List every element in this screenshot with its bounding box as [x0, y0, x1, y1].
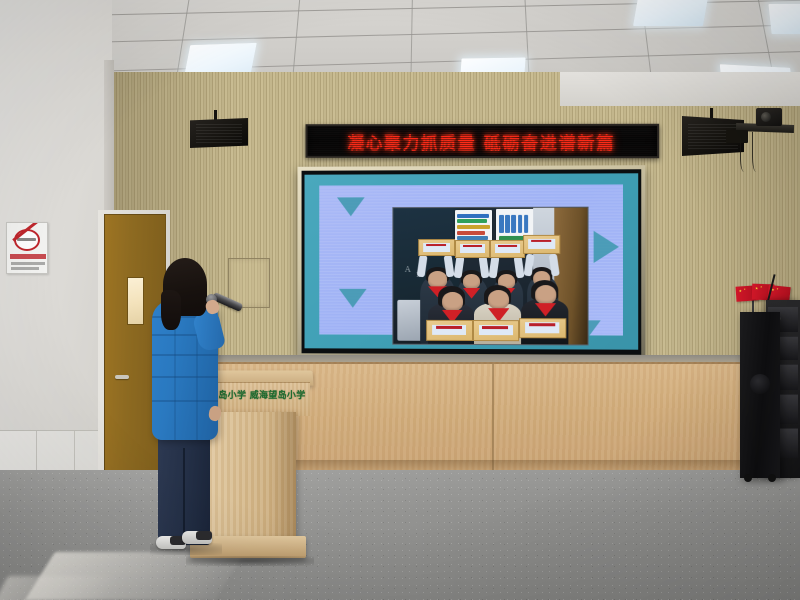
person-hair-back — [161, 290, 181, 330]
caster-wheel — [744, 474, 752, 482]
projector-cable — [740, 138, 750, 172]
podium-shadow — [186, 556, 314, 566]
sign-sub-text-2 — [11, 267, 39, 270]
wall-soffit — [560, 72, 800, 106]
subwoofer-cabinet — [740, 312, 780, 478]
slide-content-field: A x — [319, 184, 623, 336]
no-smoking-sign — [6, 222, 48, 274]
projector-cable-2 — [752, 132, 762, 172]
led-banner-text: 凝心聚力抓质量 砥砺奋进谱新篇 — [348, 128, 616, 153]
triangle-down-bottom-left-icon — [339, 288, 367, 307]
person-trousers — [158, 430, 210, 545]
projector-lens-icon — [761, 112, 771, 122]
led-display-screen[interactable]: A x — [298, 165, 646, 359]
speaker-cone-icon — [750, 374, 770, 394]
photo-certificate — [523, 235, 560, 254]
triangle-down-top-left-icon — [337, 197, 365, 216]
wall-speaker-left — [190, 118, 248, 148]
sign-sub-text — [11, 262, 45, 265]
photo-certificate — [519, 318, 566, 339]
ceiling-light-5 — [768, 4, 800, 34]
photo-certificate — [426, 320, 472, 341]
led-banner: 凝心聚力抓质量 砥砺奋进谱新篇 — [306, 124, 660, 158]
door-handle[interactable] — [115, 375, 129, 379]
slide-photo: A x — [392, 206, 588, 345]
triangle-right-middle-right-icon — [594, 230, 619, 262]
photo-certificate — [473, 320, 520, 341]
cigarette-icon — [17, 238, 36, 241]
presentation-slide: A x — [304, 173, 638, 349]
photo-certificate — [490, 240, 525, 258]
photo-certificate — [418, 239, 455, 257]
floor-light-reflection-2 — [0, 576, 118, 600]
auditorium-scene: 凝心聚力抓质量 砥砺奋进谱新篇 A x — [0, 0, 800, 600]
door-window — [127, 277, 144, 325]
ceiling-light-3 — [633, 0, 709, 26]
sign-primary-text — [10, 254, 46, 259]
caster-wheel — [768, 474, 776, 482]
photo-certificate — [455, 240, 490, 258]
